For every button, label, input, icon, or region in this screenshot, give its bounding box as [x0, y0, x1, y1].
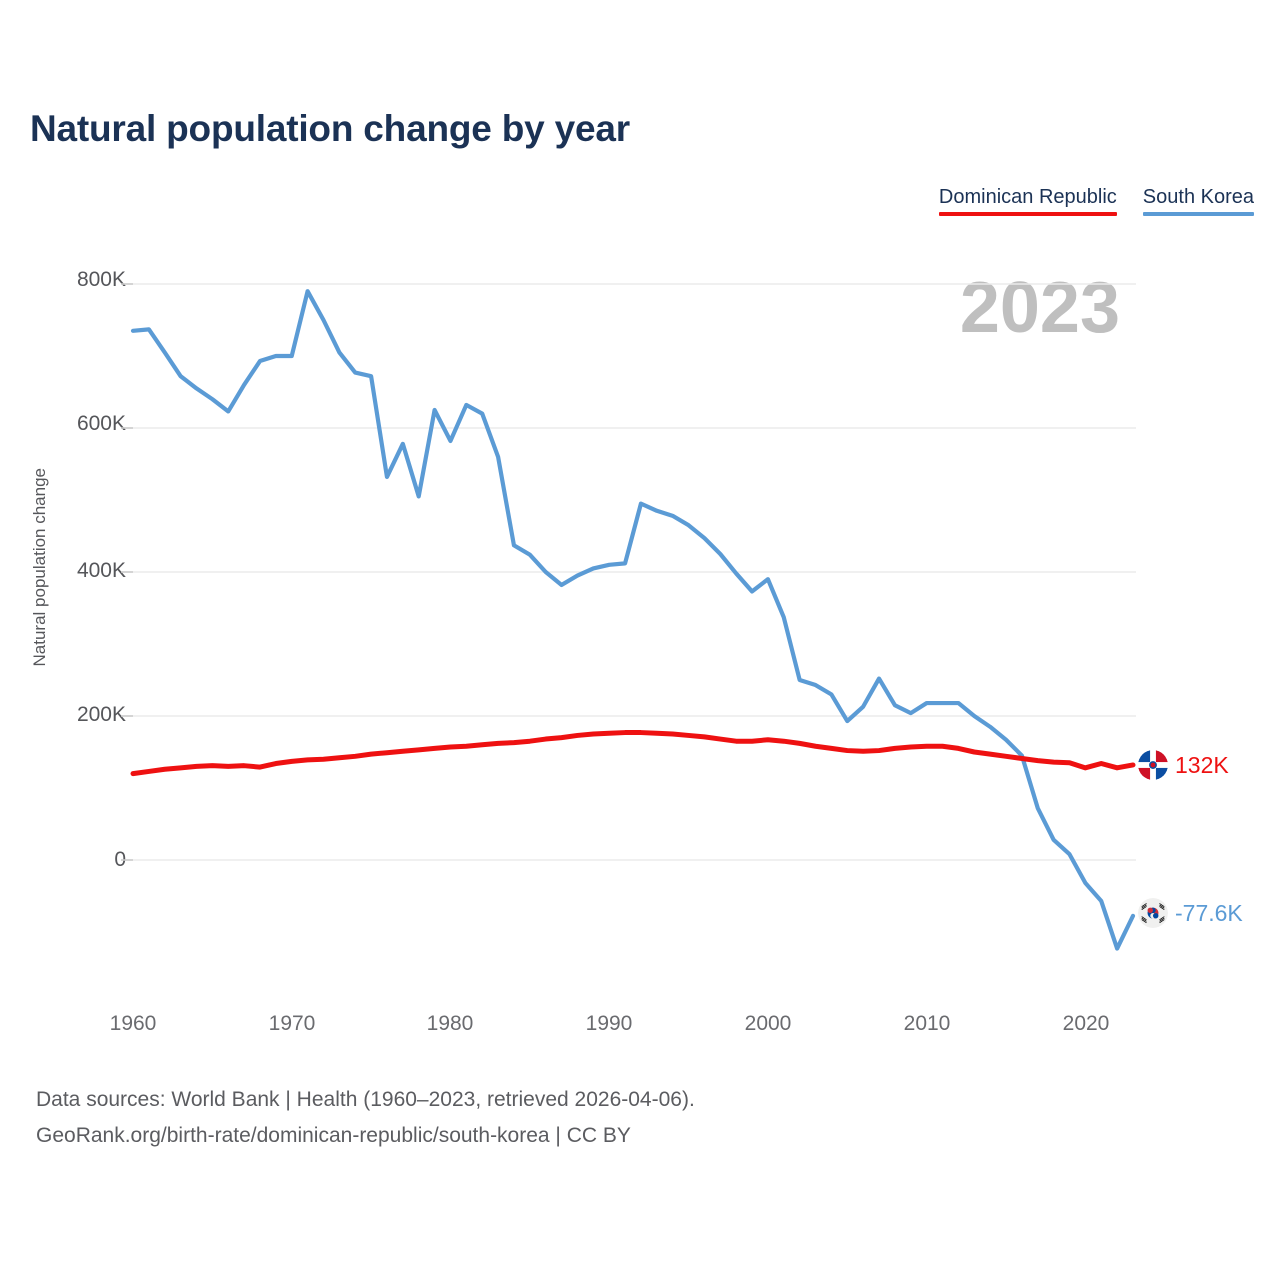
- series-line-south-korea: [133, 291, 1133, 948]
- x-tick-label: 2010: [904, 1012, 951, 1036]
- x-tick-label: 2020: [1063, 1012, 1110, 1036]
- footer-attribution: GeoRank.org/birth-rate/dominican-republi…: [36, 1118, 695, 1154]
- x-tick-label: 1960: [110, 1012, 157, 1036]
- x-tick-label: 1990: [586, 1012, 633, 1036]
- footer: Data sources: World Bank | Health (1960–…: [36, 1082, 695, 1154]
- end-label-value: -77.6K: [1175, 900, 1243, 927]
- x-tick-label: 1970: [269, 1012, 316, 1036]
- end-label-south-korea: -77.6K: [1138, 898, 1243, 928]
- chart-page: Natural population change by year Domini…: [0, 0, 1280, 1280]
- dominican-republic-flag-icon: [1138, 750, 1168, 780]
- gridlines: [133, 284, 1136, 860]
- x-tick-label: 1980: [427, 1012, 474, 1036]
- end-label-value: 132K: [1175, 752, 1229, 779]
- end-label-dominican-republic: 132K: [1138, 750, 1229, 780]
- footer-data-sources: Data sources: World Bank | Health (1960–…: [36, 1082, 695, 1118]
- x-tick-label: 2000: [745, 1012, 792, 1036]
- south-korea-flag-icon: [1138, 898, 1168, 928]
- series-line-dominican-republic: [133, 733, 1133, 774]
